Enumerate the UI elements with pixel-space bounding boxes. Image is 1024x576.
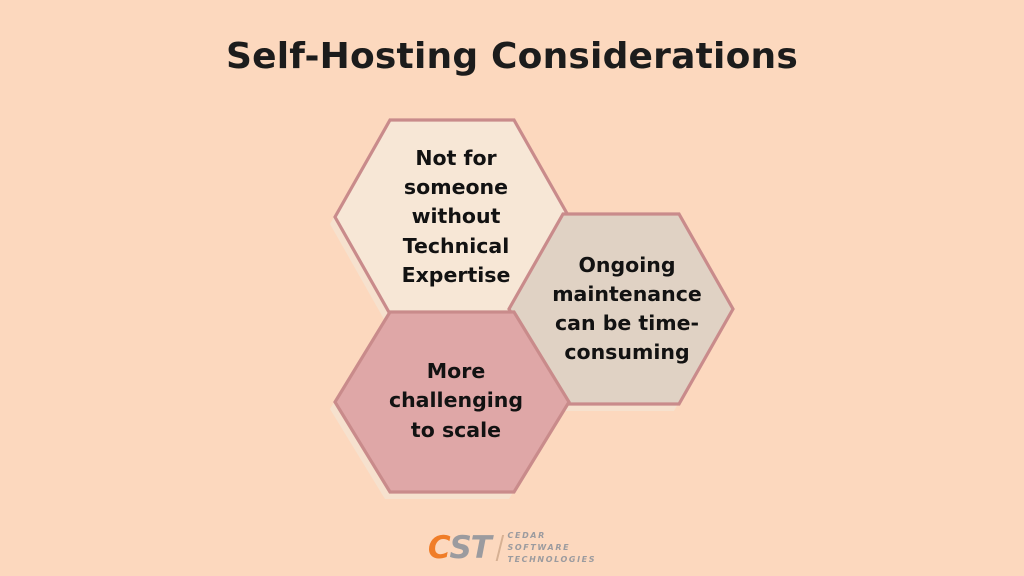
- logo-tagline: Cedar Software Technologies: [508, 530, 597, 565]
- logo-tagline-line-2: Software: [508, 542, 597, 554]
- logo-tagline-line-3: Technologies: [508, 554, 597, 566]
- logo-wordmark: CST: [428, 533, 491, 564]
- hexagon-card-3[interactable]: More challenging to scale: [333, 306, 571, 496]
- logo-tagline-line-1: Cedar: [508, 530, 597, 542]
- hexagon-cluster-diagram: Not for someone without Technical Expert…: [0, 0, 1024, 576]
- logo-letters-st: ST: [449, 533, 490, 564]
- logo-letter-c: C: [428, 533, 450, 564]
- hexagon-shape-3-icon: [333, 306, 571, 496]
- logo-divider: [495, 535, 503, 561]
- cst-logo: CST Cedar Software Technologies: [428, 528, 596, 568]
